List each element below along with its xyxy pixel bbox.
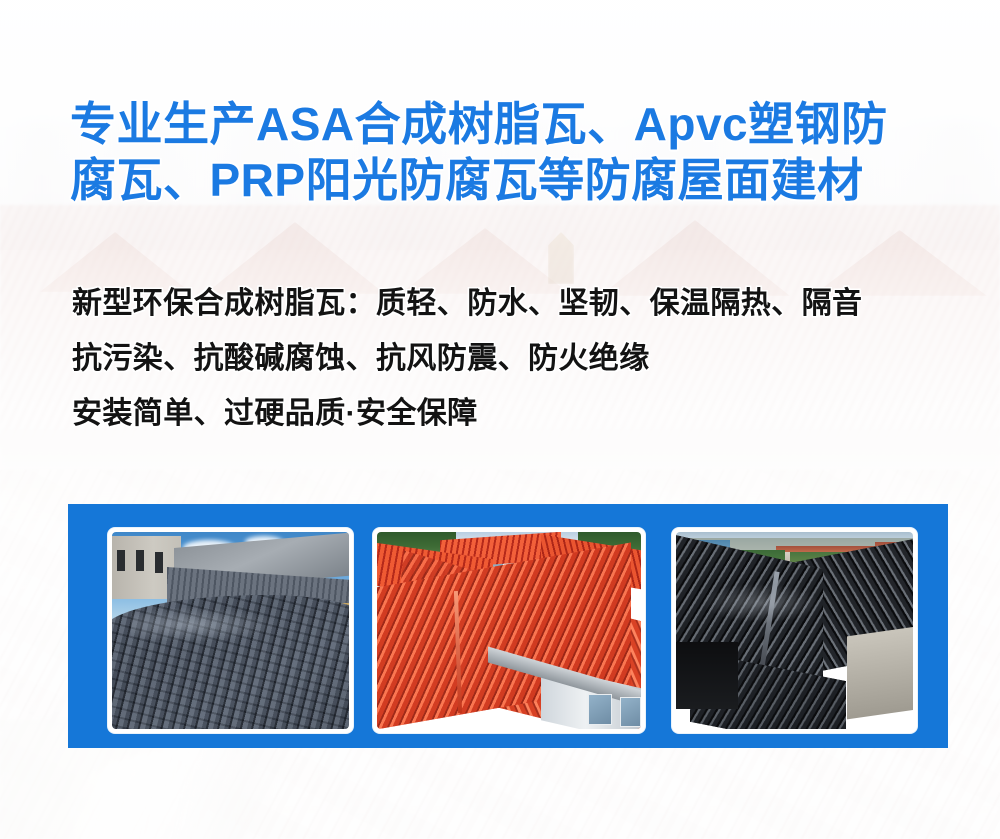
headline-line-2: 腐瓦、PRP阳光防腐瓦等防腐屋面建材 (70, 152, 960, 208)
photo3-gloss-highlight (700, 583, 823, 622)
feature-copy-line-2: 抗污染、抗酸碱腐蚀、抗风防震、防火绝缘 (72, 331, 972, 386)
gallery-photo-1[interactable] (108, 528, 353, 733)
photo2-window-5 (588, 694, 612, 726)
product-banner: 专业生产ASA合成树脂瓦、Apvc塑钢防 腐瓦、PRP阳光防腐瓦等防腐屋面建材 … (0, 0, 1000, 839)
photo1-window-2 (136, 550, 144, 572)
photo1-highlight (131, 607, 278, 642)
photo3-concrete-wall (847, 625, 913, 718)
headline-line-1: 专业生产ASA合成树脂瓦、Apvc塑钢防 (70, 96, 960, 152)
gallery-photo-3[interactable] (672, 528, 917, 733)
grey-resin-tile-roof-photo (112, 532, 349, 729)
feature-copy-line-3: 安装简单、过硬品质·安全保障 (72, 386, 972, 441)
photo2-window-6 (620, 697, 641, 727)
headline: 专业生产ASA合成树脂瓦、Apvc塑钢防 腐瓦、PRP阳光防腐瓦等防腐屋面建材 (70, 96, 960, 208)
gallery-photo-2[interactable] (373, 528, 645, 733)
photo1-window-1 (117, 550, 125, 572)
red-resin-tile-roof-photo (377, 532, 641, 729)
feature-copy: 新型环保合成树脂瓦：质轻、防水、坚韧、保温隔热、隔音 抗污染、抗酸碱腐蚀、抗风防… (72, 276, 972, 441)
black-resin-tile-roof-photo (676, 532, 913, 729)
photo3-shaded-underside (676, 642, 738, 709)
photo1-window-3 (155, 552, 163, 574)
feature-copy-line-1: 新型环保合成树脂瓦：质轻、防水、坚韧、保温隔热、隔音 (72, 276, 972, 331)
